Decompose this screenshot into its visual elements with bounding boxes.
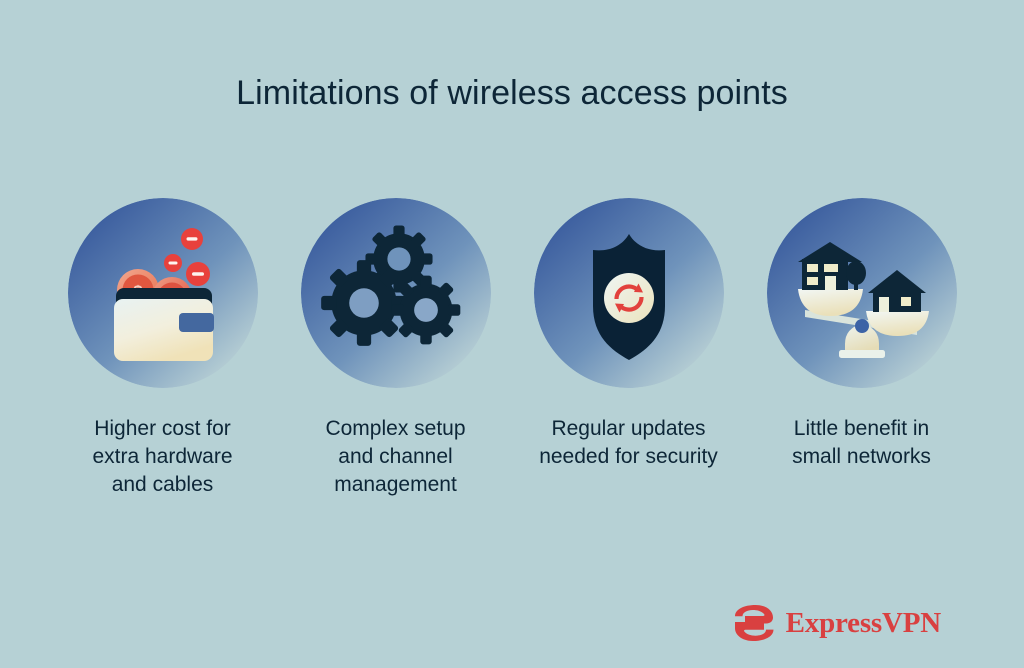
limitation-card: Complex setup and channel management — [279, 198, 512, 499]
icon-circle — [767, 198, 957, 388]
card-caption: Regular updates needed for security — [539, 415, 718, 471]
shield-refresh-icon — [534, 198, 724, 388]
limitation-card: $ $ — [46, 198, 279, 499]
card-caption: Little benefit in small networks — [792, 415, 931, 471]
gears-icon — [301, 198, 491, 388]
expressvpn-logo[interactable]: ExpressVPN — [733, 604, 941, 642]
balance-scale-houses-icon — [767, 198, 957, 388]
limitation-card-list: $ $ — [0, 198, 1024, 499]
expressvpn-wordmark: ExpressVPN — [786, 609, 941, 638]
card-caption: Higher cost for extra hardware and cable… — [92, 415, 232, 499]
limitation-card: Regular updates needed for security — [512, 198, 745, 471]
icon-circle: $ $ — [68, 198, 258, 388]
page-title: Limitations of wireless access points — [0, 74, 1024, 113]
limitation-card: Little benefit in small networks — [745, 198, 978, 471]
infographic-canvas: Limitations of wireless access points — [0, 0, 1024, 668]
icon-circle — [301, 198, 491, 388]
icon-circle — [534, 198, 724, 388]
wallet-coins-icon: $ $ — [68, 198, 258, 388]
card-caption: Complex setup and channel management — [325, 415, 465, 499]
expressvpn-logo-mark — [733, 604, 775, 642]
